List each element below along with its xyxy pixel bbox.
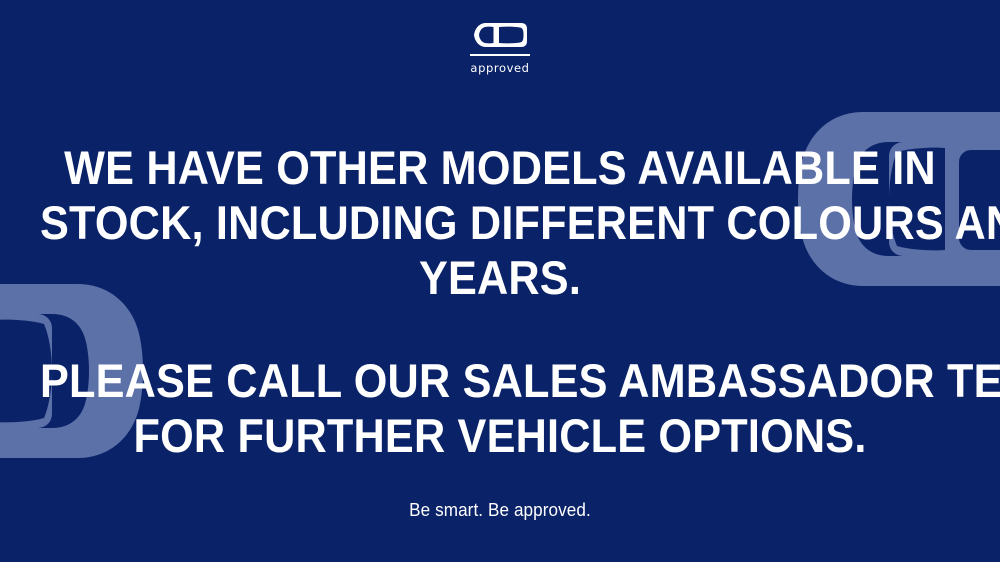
headline-line-3: YEARS. — [40, 250, 960, 305]
promo-slide: approved WE HAVE OTHER MODELS AVAILABLE … — [0, 0, 1000, 562]
car-top-view-icon — [473, 22, 528, 48]
headline-line-5: FOR FURTHER VEHICLE OPTIONS. — [40, 408, 960, 463]
tagline: Be smart. Be approved. — [25, 500, 975, 521]
headline-line-2: STOCK, INCLUDING DIFFERENT COLOURS AND — [40, 195, 960, 250]
brand-logo: approved — [0, 22, 1000, 75]
headline-line-4: PLEASE CALL OUR SALES AMBASSADOR TEAM — [40, 353, 960, 408]
logo-wordmark: approved — [470, 61, 529, 75]
paragraph-spacer — [0, 305, 1000, 353]
logo-divider — [470, 54, 530, 56]
headline-copy: WE HAVE OTHER MODELS AVAILABLE IN STOCK,… — [0, 140, 1000, 463]
headline-line-1: WE HAVE OTHER MODELS AVAILABLE IN — [40, 140, 960, 195]
